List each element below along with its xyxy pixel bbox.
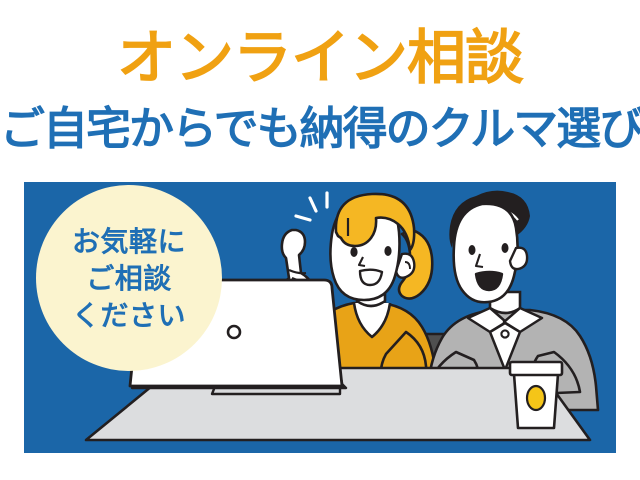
badge-line-3: ください xyxy=(72,297,186,334)
page-subtitle: ご自宅からでも納得のクルマ選びを xyxy=(0,104,640,154)
badge-line-2: ご相談 xyxy=(86,260,172,297)
badge-line-1: お気軽に xyxy=(72,223,186,260)
man-mouth xyxy=(476,272,502,290)
woman-eye-right xyxy=(384,246,391,256)
laptop-logo-icon xyxy=(228,326,240,338)
sparkle-icon xyxy=(296,193,327,220)
coffee-cup-logo-icon xyxy=(527,386,545,410)
man-shirt-button xyxy=(501,330,508,337)
online-consultation-banner: オンライン相談 ご自宅からでも納得のクルマ選びを xyxy=(0,0,640,480)
man-eye-left xyxy=(469,245,476,255)
woman-eye-left xyxy=(350,247,357,257)
woman-mouth xyxy=(360,270,382,285)
illustration-panel: お気軽に ご相談 ください xyxy=(24,182,616,453)
man-eye-right xyxy=(502,243,509,253)
consultation-badge: お気軽に ご相談 ください xyxy=(36,185,222,371)
headline-area: オンライン相談 ご自宅からでも納得のクルマ選びを xyxy=(0,0,640,176)
page-title: オンライン相談 xyxy=(0,27,640,89)
coffee-cup-lid xyxy=(510,362,562,375)
